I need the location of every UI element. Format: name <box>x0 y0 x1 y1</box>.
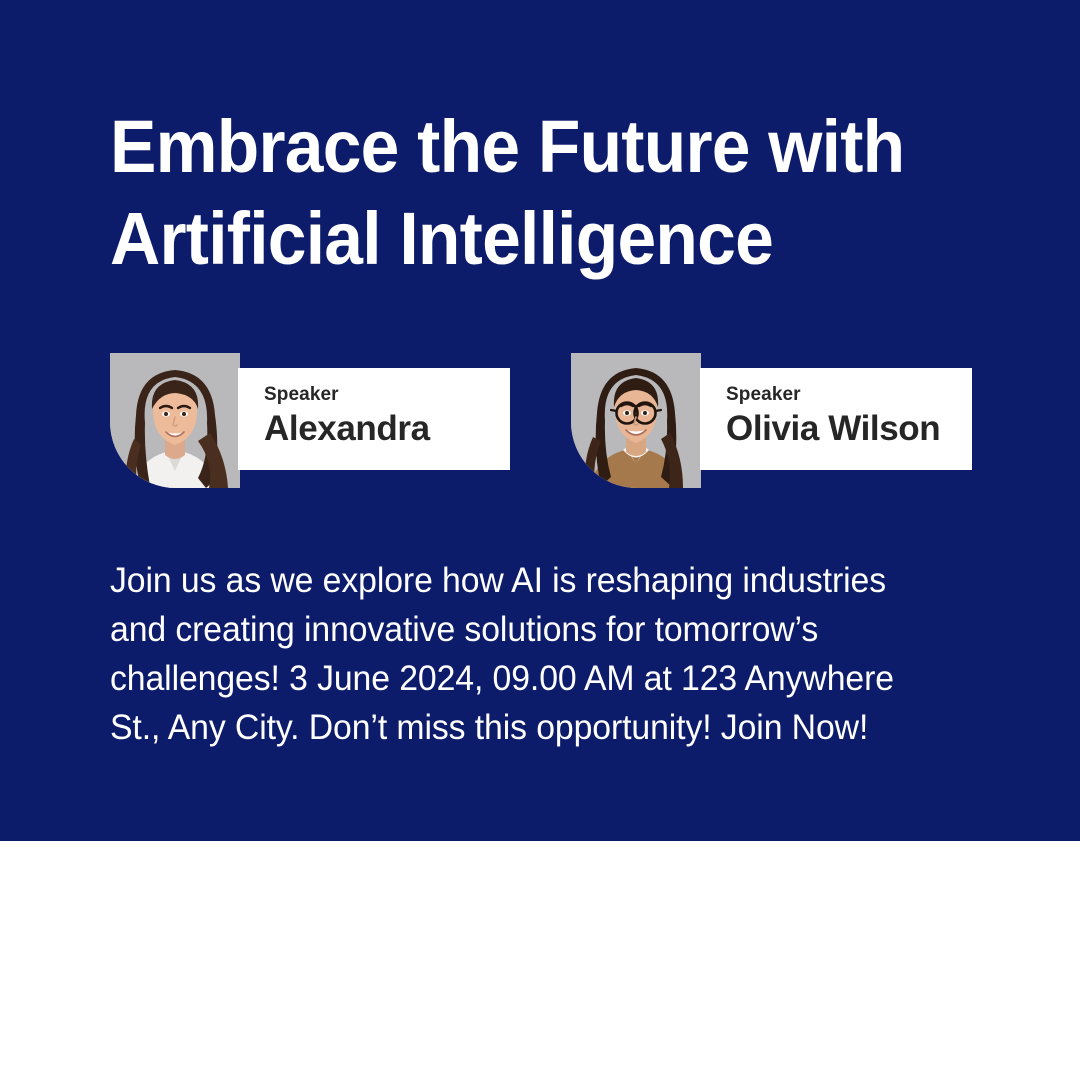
speaker-label-box: Speaker Olivia Wilson <box>700 368 972 470</box>
page-title: Embrace the Future with Artificial Intel… <box>110 101 956 285</box>
avatar <box>571 353 701 488</box>
avatar <box>110 353 240 488</box>
footer-section: Capcut Free Registration! Follow our soc… <box>0 841 1080 1080</box>
speaker-label-box: Speaker Alexandra <box>238 368 510 470</box>
speaker-name: Alexandra <box>264 407 510 451</box>
hero-section: Embrace the Future with Artificial Intel… <box>0 0 1080 841</box>
speaker-list: Speaker Alexandra <box>110 353 972 488</box>
event-description: Join us as we explore how AI is reshapin… <box>110 556 959 752</box>
speaker-name: Olivia Wilson <box>726 407 972 451</box>
speaker-role: Speaker <box>264 384 510 406</box>
speaker-card[interactable]: Speaker Olivia Wilson <box>571 353 972 488</box>
speaker-card[interactable]: Speaker Alexandra <box>110 353 510 488</box>
poster-canvas: Embrace the Future with Artificial Intel… <box>0 0 1080 1080</box>
speaker-role: Speaker <box>726 384 972 406</box>
